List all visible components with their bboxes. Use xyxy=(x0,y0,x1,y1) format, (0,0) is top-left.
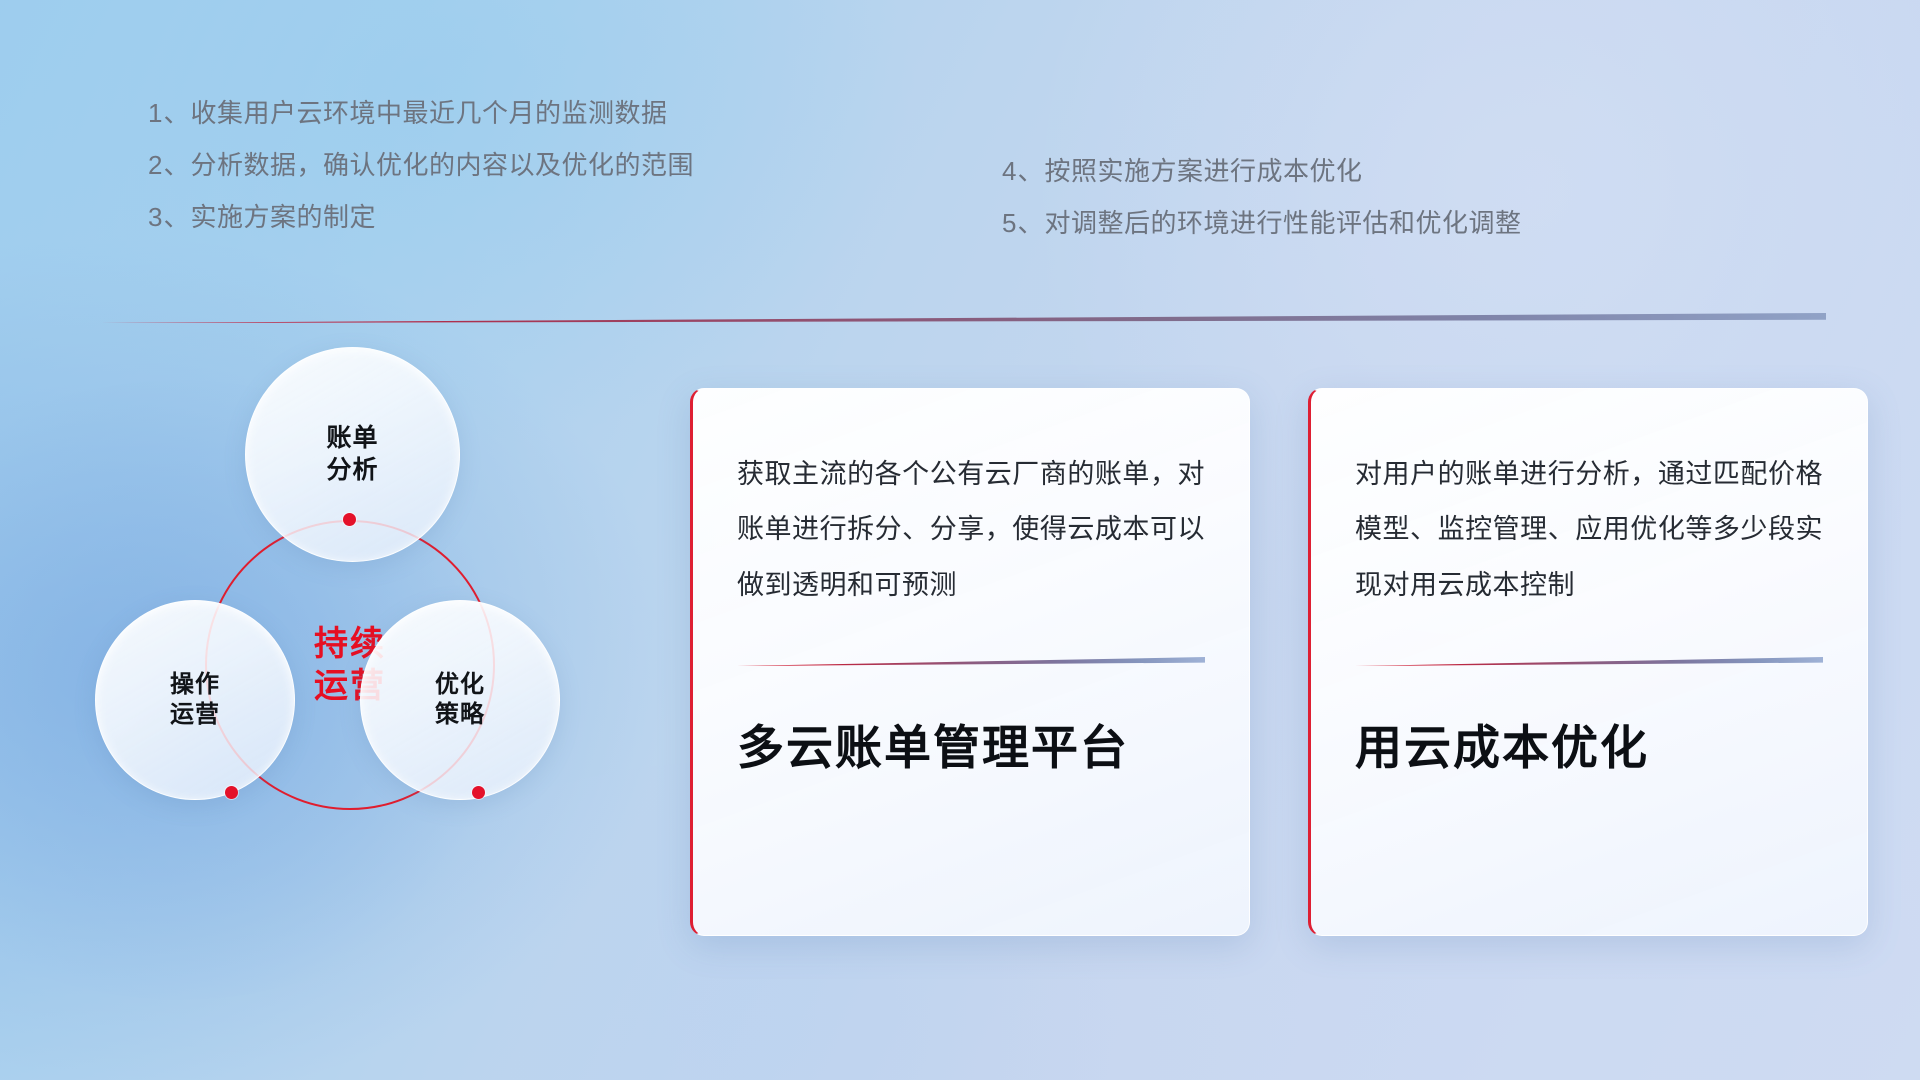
list-item-number: 2、 xyxy=(148,150,190,180)
card-body-text: 对用户的账单进行分析，通过匹配价格模型、监控管理、应用优化等多少段实现对用云成本… xyxy=(1355,447,1823,613)
venn-node-label-line2: 策略 xyxy=(435,700,485,730)
card-multicloud-billing[interactable]: 获取主流的各个公有云厂商的账单，对账单进行拆分、分享，使得云成本可以做到透明和可… xyxy=(690,388,1250,936)
list-item-label: 按照实施方案进行成本优化 xyxy=(1044,156,1362,186)
venn-node-label-line1: 优化 xyxy=(435,670,485,700)
list-item-label: 分析数据，确认优化的内容以及优化的范围 xyxy=(190,150,694,180)
card-divider xyxy=(737,657,1205,666)
list-item-number: 5、 xyxy=(1002,208,1044,238)
card-divider-bar xyxy=(1355,657,1823,666)
list-item-number: 1、 xyxy=(148,98,190,128)
section-divider xyxy=(100,313,1826,323)
card-title: 用云成本优化 xyxy=(1355,722,1823,774)
list-item: 5、对调整后的环境进行性能评估和优化调整 xyxy=(1002,210,1521,236)
list-item-number: 4、 xyxy=(1002,156,1044,186)
venn-connector-dot-top xyxy=(343,513,356,526)
venn-node-operations[interactable]: 操作 运营 xyxy=(95,600,295,800)
card-divider xyxy=(1355,657,1823,666)
venn-node-label-line1: 操作 xyxy=(170,670,220,700)
steps-list-left: 1、收集用户云环境中最近几个月的监测数据 2、分析数据，确认优化的内容以及优化的… xyxy=(148,100,694,256)
steps-list-right: 4、按照实施方案进行成本优化 5、对调整后的环境进行性能评估和优化调整 xyxy=(1002,158,1521,262)
slide-canvas: 1、收集用户云环境中最近几个月的监测数据 2、分析数据，确认优化的内容以及优化的… xyxy=(0,0,1920,1080)
venn-node-label-line2: 分析 xyxy=(326,455,378,487)
card-divider-bar xyxy=(737,657,1205,666)
venn-connector-dot-right xyxy=(472,786,485,799)
venn-node-optimization-strategy[interactable]: 优化 策略 xyxy=(360,600,560,800)
venn-node-label-line2: 运营 xyxy=(170,700,220,730)
venn-node-label-line1: 账单 xyxy=(326,423,378,455)
list-item-label: 收集用户云环境中最近几个月的监测数据 xyxy=(190,98,667,128)
venn-diagram: 持续 运营 账单 分析 操作 运营 优化 策略 xyxy=(95,355,640,935)
list-item-label: 对调整后的环境进行性能评估和优化调整 xyxy=(1044,208,1521,238)
list-item: 4、按照实施方案进行成本优化 xyxy=(1002,158,1521,184)
card-title: 多云账单管理平台 xyxy=(737,722,1205,774)
list-item: 2、分析数据，确认优化的内容以及优化的范围 xyxy=(148,152,694,178)
card-cloud-cost-optimization[interactable]: 对用户的账单进行分析，通过匹配价格模型、监控管理、应用优化等多少段实现对用云成本… xyxy=(1308,388,1868,936)
card-body-text: 获取主流的各个公有云厂商的账单，对账单进行拆分、分享，使得云成本可以做到透明和可… xyxy=(737,447,1205,613)
list-item-label: 实施方案的制定 xyxy=(190,202,376,232)
list-item-number: 3、 xyxy=(148,202,190,232)
venn-node-bill-analysis[interactable]: 账单 分析 xyxy=(245,347,460,562)
section-divider-bar xyxy=(100,313,1826,323)
list-item: 3、实施方案的制定 xyxy=(148,204,694,230)
venn-connector-dot-left xyxy=(225,786,238,799)
list-item: 1、收集用户云环境中最近几个月的监测数据 xyxy=(148,100,694,126)
